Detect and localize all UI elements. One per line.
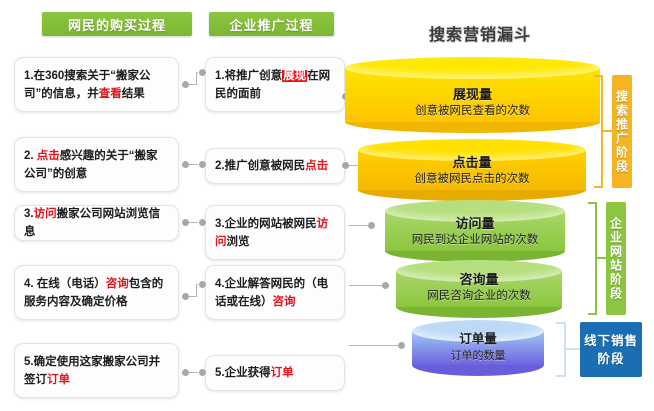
connector-dot: [199, 161, 206, 168]
stage-label-offline-text: 线下销售阶段: [580, 332, 642, 368]
connector-dot: [382, 282, 389, 289]
consumer-step-4-text: 4. 在线（电话）咨询包含的服务内容及确定价格: [24, 275, 169, 311]
consumer-step-5-text: 5.确定使用这家搬家公司并签订订单: [24, 353, 169, 389]
consumer-step-2-text: 2. 点击感兴趣的关于“搬家公司”的创意: [24, 147, 169, 183]
connector-line: [349, 285, 383, 286]
enterprise-step-5: 5.企业获得订单: [205, 355, 345, 391]
connector-dot: [199, 69, 206, 76]
enterprise-step-1-text: 1.将推广创意展现在网民的面前: [215, 67, 335, 103]
funnel-layer-click: 点击量 创意被网民点击的次数: [358, 139, 586, 201]
connector-dot: [342, 162, 349, 169]
funnel-layer-impression: 展现量 创意被网民查看的次数: [345, 57, 600, 133]
stage-label-offline: 线下销售阶段: [580, 322, 642, 377]
consumer-step-1-text: 1.在360搜索关于“搬家公司”的信息，并查看结果: [24, 67, 169, 103]
funnel-layer-order: 订单量 订单的数量: [412, 320, 544, 376]
stage-label-search-text: 搜索推广阶段: [614, 90, 631, 174]
header-banner-consumer: 网民的购买过程: [42, 12, 192, 36]
disc-top: [412, 320, 544, 342]
connector-dot: [182, 161, 189, 168]
connector-dot: [199, 369, 206, 376]
connector-dot: [398, 342, 405, 349]
connector-line: [196, 284, 197, 297]
connector-dot: [199, 281, 206, 288]
enterprise-step-1: 1.将推广创意展现在网民的面前: [205, 57, 345, 112]
funnel-layer-visit: 访问量 网民到达企业网站的次数: [385, 200, 565, 262]
funnel-title-label: 搜索营销漏斗: [429, 21, 531, 45]
disc-top: [345, 57, 600, 79]
consumer-step-3-text: 3.访问搬家公司网站浏览信息: [24, 205, 169, 241]
disc-top: [358, 139, 586, 161]
connector-dot: [182, 369, 189, 376]
connector-dot: [182, 219, 189, 226]
funnel-layer-consult: 咨询量 网民咨询企业的次数: [396, 260, 562, 318]
connector-line: [349, 225, 369, 226]
connector-dot: [199, 219, 206, 226]
consumer-step-4: 4. 在线（电话）咨询包含的服务内容及确定价格: [14, 265, 179, 320]
consumer-step-2: 2. 点击感兴趣的关于“搬家公司”的创意: [14, 137, 179, 192]
enterprise-step-4: 4.企业解答网民的（电话或在线）咨询: [205, 265, 345, 320]
enterprise-step-3: 3.企业的网站被网民访问浏览: [205, 205, 345, 260]
enterprise-step-3-text: 3.企业的网站被网民访问浏览: [215, 215, 335, 251]
connector-dot: [368, 222, 375, 229]
header-banner-consumer-label: 网民的购买过程: [68, 15, 166, 34]
consumer-step-1: 1.在360搜索关于“搬家公司”的信息，并查看结果: [14, 57, 179, 112]
header-banner-enterprise-label: 企业推广过程: [229, 15, 313, 34]
disc-top: [396, 260, 562, 282]
enterprise-step-5-text: 5.企业获得订单: [215, 364, 335, 382]
connector-dot: [182, 293, 189, 300]
connector-line: [196, 72, 197, 85]
header-banner-enterprise: 企业推广过程: [209, 12, 334, 36]
consumer-step-3: 3.访问搬家公司网站浏览信息: [14, 205, 179, 241]
enterprise-step-2-text: 2.推广创意被网民点击: [215, 157, 335, 175]
consumer-step-5: 5.确定使用这家搬家公司并签订订单: [14, 343, 179, 398]
enterprise-step-4-text: 4.企业解答网民的（电话或在线）咨询: [215, 275, 335, 311]
disc-top: [385, 200, 565, 222]
infographic-canvas: 网民的购买过程 企业推广过程 搜索营销漏斗 1.在360搜索关于“搬家公司”的信…: [0, 0, 654, 411]
stage-label-search: 搜索推广阶段: [612, 75, 632, 188]
connector-line: [349, 345, 399, 346]
funnel-title: 搜索营销漏斗: [395, 21, 565, 45]
stage-label-website-text: 企业网站阶段: [608, 217, 625, 301]
connector-dot: [182, 81, 189, 88]
enterprise-step-2: 2.推广创意被网民点击: [205, 148, 345, 184]
stage-label-website: 企业网站阶段: [606, 202, 626, 315]
